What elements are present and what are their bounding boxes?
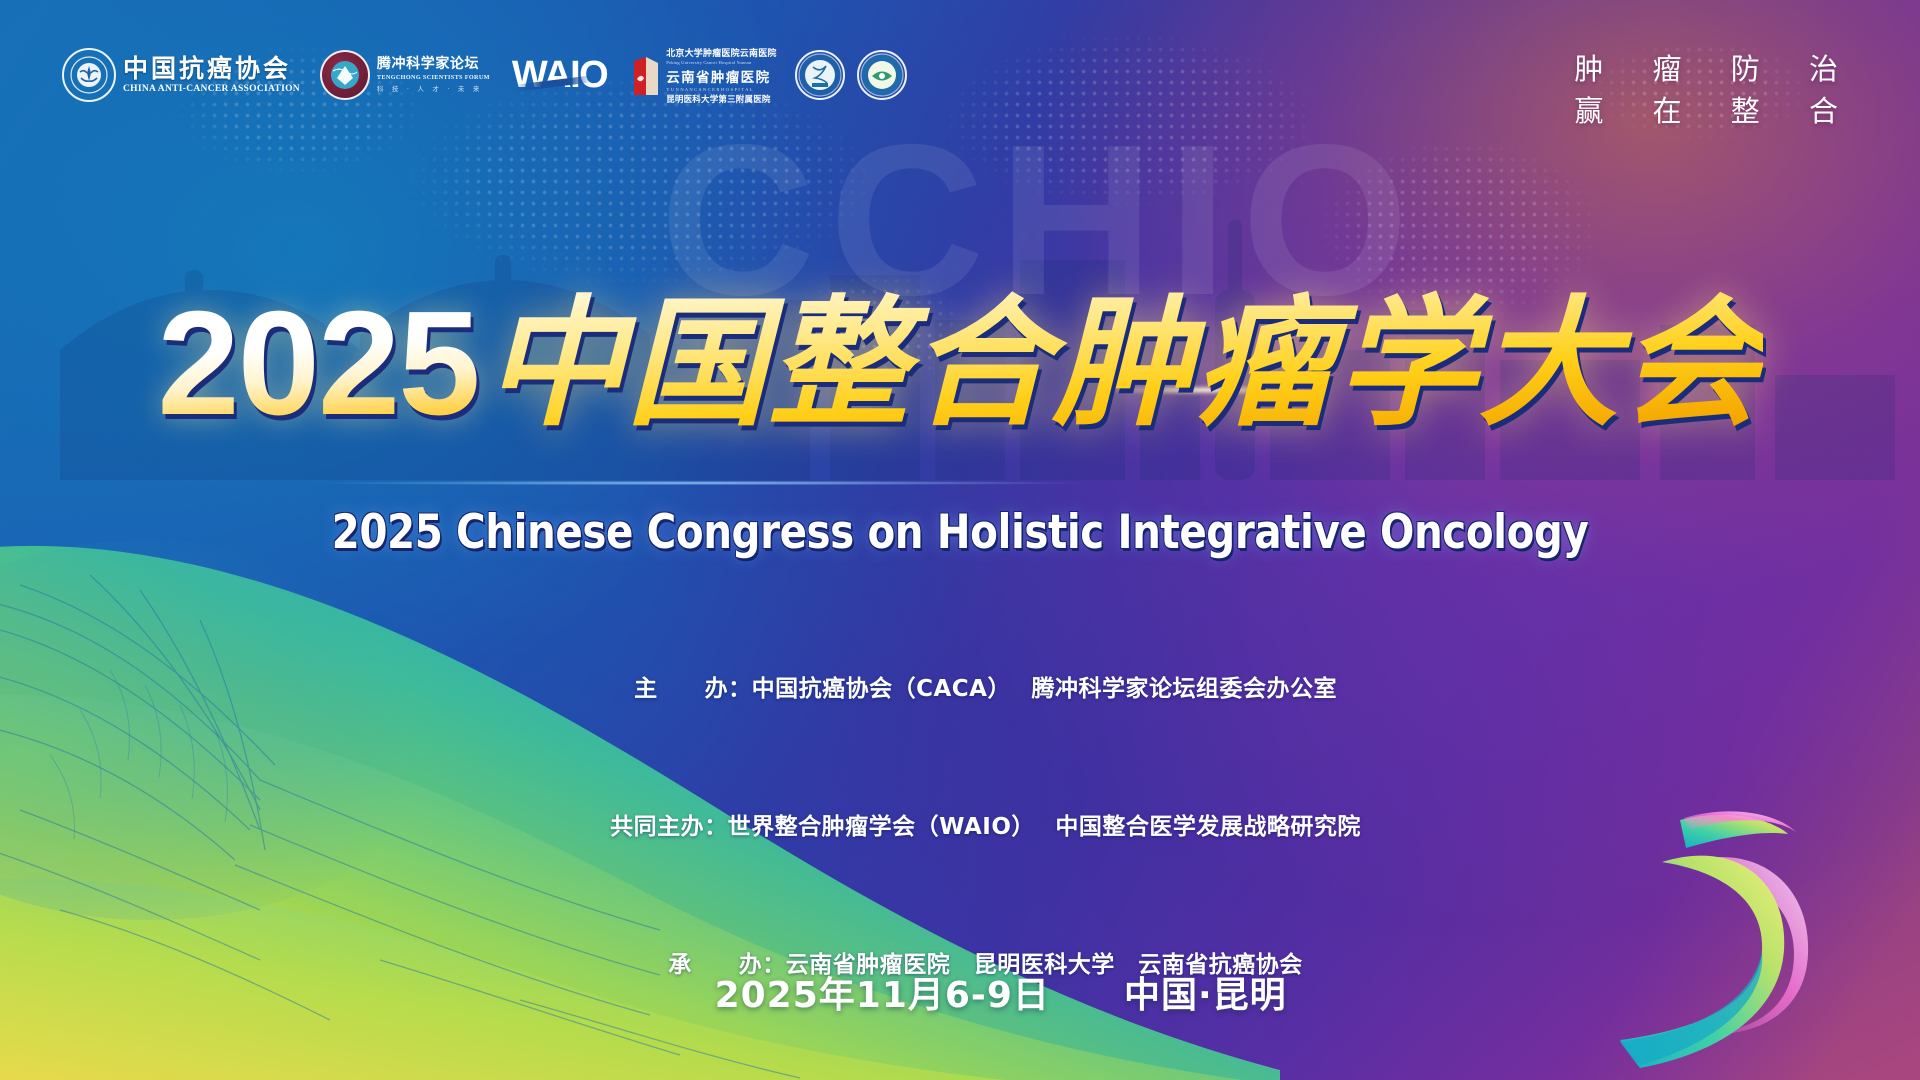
organizer-value: 世界整合肿瘤学会（WAIO） 中国整合医学发展战略研究院 bbox=[728, 814, 1361, 840]
yunnan-hospital-line1: 北京大学肿瘤医院云南医院 bbox=[666, 46, 776, 59]
organizer-row: 主 办：中国抗癌协会（CACA） 腾冲科学家论坛组委会办公室 bbox=[0, 620, 1920, 758]
organizer-role: 主 办： bbox=[634, 676, 752, 702]
caca-seal-icon bbox=[62, 48, 116, 102]
tengchong-tagline: 科 技 · 人 才 · 未 来 bbox=[377, 83, 490, 93]
title-chinese: 中国整合肿瘤学大会 bbox=[485, 282, 1763, 446]
slogan-line-2: 赢 在 整 合 bbox=[1574, 90, 1862, 132]
yaca-emblem-icon bbox=[859, 52, 905, 98]
logo-waio: WAIO bbox=[512, 56, 607, 94]
main-title: 2025中国整合肿瘤学大会 bbox=[157, 290, 1762, 438]
conference-location: 中国·昆明 bbox=[1124, 975, 1287, 1016]
logo-china-anti-cancer-association: 中国抗癌协会 CHINA ANTI-CANCER ASSOCIATION bbox=[62, 48, 300, 102]
kunming-medical-university-seal-icon bbox=[795, 50, 845, 100]
caca-english-name: CHINA ANTI-CANCER ASSOCIATION bbox=[123, 84, 300, 94]
yunnan-hospital-line2-en: Y U N N A N C A N C E R H O S P I T A L bbox=[666, 87, 776, 92]
title-year: 2025 bbox=[157, 281, 478, 446]
organizer-row: 共同主办：世界整合肿瘤学会（WAIO） 中国整合医学发展战略研究院 bbox=[0, 758, 1920, 896]
tengchong-english-name: TENGCHONG SCIENTISTS FORUM bbox=[377, 74, 490, 81]
waio-wordmark: WAIO bbox=[512, 56, 607, 94]
conference-date: 2025年11月6-9日 bbox=[715, 975, 1050, 1016]
caca-chinese-name: 中国抗癌协会 bbox=[123, 56, 300, 81]
logo-kunming-medical-university bbox=[795, 50, 845, 100]
footer-block: 2025年11月6-9日 中国·昆明 bbox=[0, 925, 1920, 1059]
main-title-block: 2025中国整合肿瘤学大会 bbox=[0, 290, 1920, 438]
red-gate-emblem-icon bbox=[633, 55, 659, 97]
logo-tengchong-scientists-forum: 腾冲科学家论坛 TENGCHONG SCIENTISTS FORUM 科 技 ·… bbox=[320, 50, 490, 100]
footer-separator bbox=[1050, 975, 1124, 1016]
tengchong-seal-icon bbox=[320, 50, 370, 100]
organization-logo-row: 中国抗癌协会 CHINA ANTI-CANCER ASSOCIATION 腾冲科… bbox=[62, 42, 907, 108]
logo-yunnan-cancer-hospital: 北京大学肿瘤医院云南医院 Peking University Cancer Ho… bbox=[633, 46, 776, 105]
conference-slogan: 肿 瘤 防 治 赢 在 整 合 bbox=[1574, 48, 1862, 132]
footer-line: 2025年11月6-9日 中国·昆明 bbox=[0, 925, 1920, 1059]
yunnan-hospital-line3: 昆明医科大学第三附属医院 bbox=[666, 93, 776, 105]
tengchong-globe-icon bbox=[327, 57, 363, 93]
yunnan-hospital-line2: 云南省肿瘤医院 bbox=[666, 66, 776, 86]
kmu-emblem-icon bbox=[797, 52, 843, 98]
yunnan-anti-cancer-seal-icon bbox=[857, 50, 907, 100]
caca-crab-emblem-icon bbox=[69, 55, 109, 95]
yunnan-hospital-red-gate-icon bbox=[633, 55, 659, 95]
tengchong-chinese-name: 腾冲科学家论坛 bbox=[377, 57, 490, 72]
yunnan-hospital-line1-en: Peking University Cancer Hospital Yunnan bbox=[666, 60, 776, 65]
organizer-role: 共同主办： bbox=[610, 814, 728, 840]
logo-yunnan-anti-cancer-association bbox=[857, 50, 907, 100]
english-subtitle: 2025 Chinese Congress on Holistic Integr… bbox=[134, 505, 1785, 560]
conference-banner: CCHIO 中国抗癌协会 CHINA ANTI-CANCER ASSOCIATI… bbox=[0, 0, 1920, 1080]
organizer-value: 中国抗癌协会（CACA） 腾冲科学家论坛组委会办公室 bbox=[752, 676, 1337, 702]
slogan-line-1: 肿 瘤 防 治 bbox=[1574, 48, 1862, 90]
